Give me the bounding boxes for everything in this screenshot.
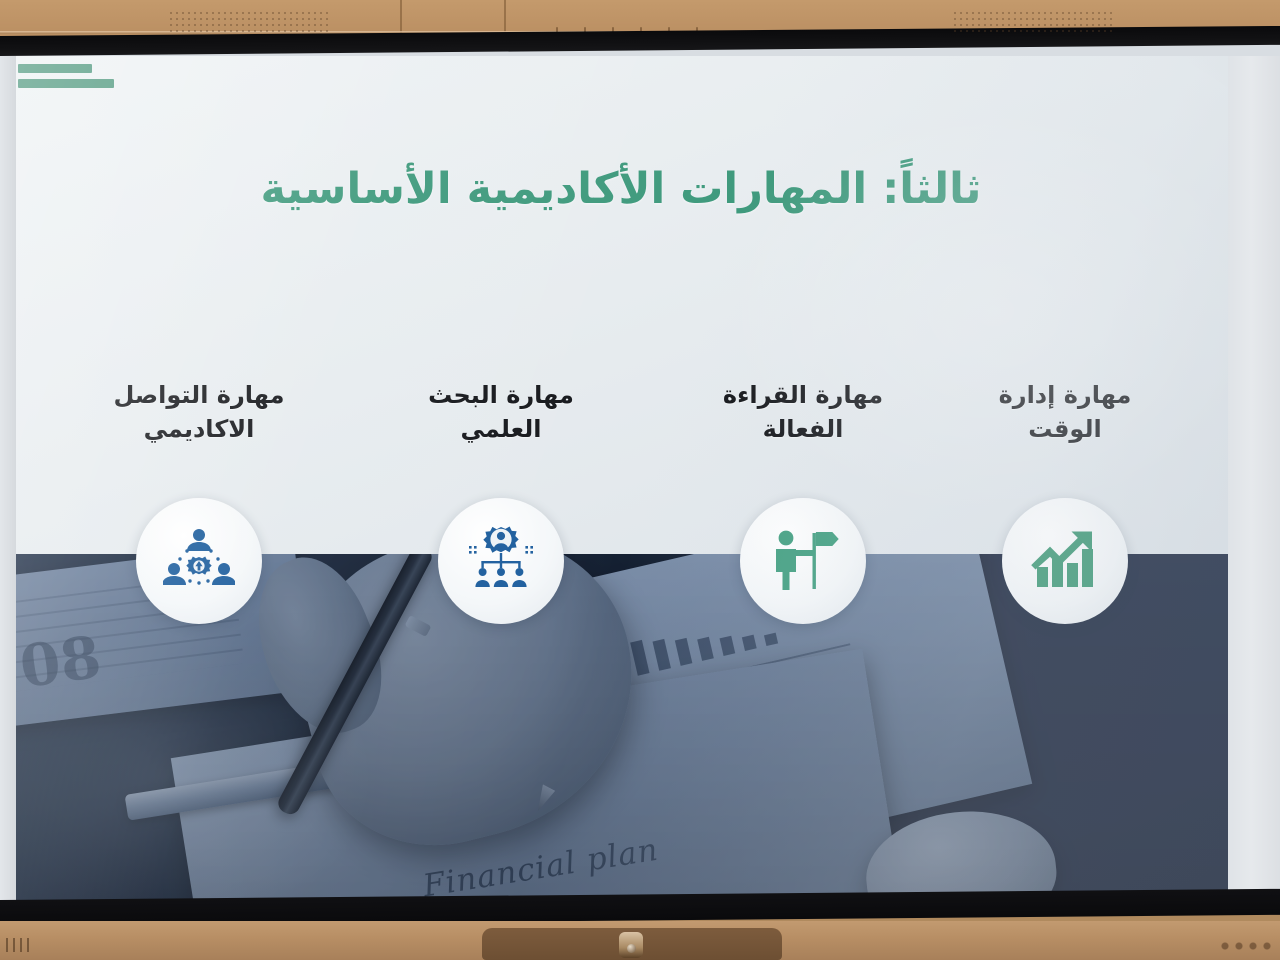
skills-columns: مهارة التواصل الاكاديمي [14, 56, 1228, 908]
port-strip-left [6, 938, 32, 952]
presentation-slide[interactable]: 08 Current financial situation Financial… [14, 56, 1228, 908]
screen-edge-right [1228, 56, 1280, 908]
skill-label-time-management: مهارة إدارة الوقت [940, 378, 1190, 446]
room-scene: 08 Current financial situation Financial… [0, 0, 1280, 960]
person-with-signpost-icon [767, 525, 839, 597]
skill-label-reading: مهارة القراءة الفعالة [678, 378, 928, 446]
skill-icon-circle-reading[interactable] [740, 498, 866, 624]
screen-edge-left [0, 56, 16, 908]
speaker-grille-right [952, 10, 1112, 32]
skill-label-research: مهارة البحث العلمي [376, 378, 626, 446]
skill-icon-circle-time-management[interactable] [1002, 498, 1128, 624]
speaker-grille-left [168, 10, 328, 32]
port-strip-right [1218, 938, 1274, 954]
growth-bar-chart-arrow-icon [1029, 525, 1101, 597]
person-in-gear-hierarchy-icon [465, 525, 537, 597]
people-network-gear-icon [163, 525, 235, 597]
skill-icon-circle-communication[interactable] [136, 498, 262, 624]
skill-icon-circle-research[interactable] [438, 498, 564, 624]
skill-label-communication: مهارة التواصل الاكاديمي [74, 378, 324, 446]
display-screen[interactable]: 08 Current financial situation Financial… [0, 45, 1280, 908]
camera-lens [627, 944, 636, 953]
